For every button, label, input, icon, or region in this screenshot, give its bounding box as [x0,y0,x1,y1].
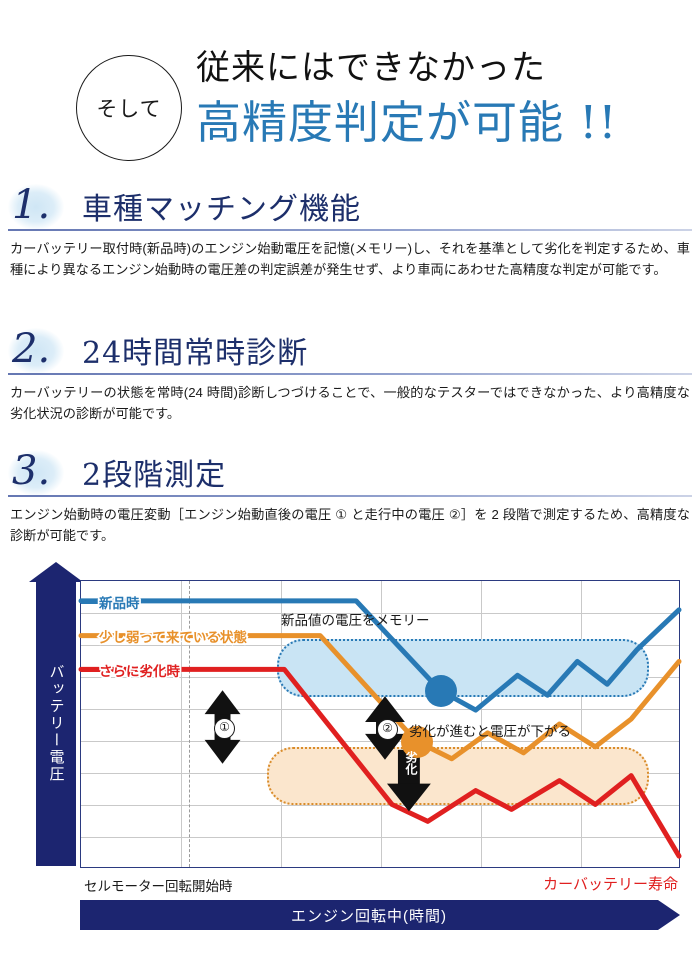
section-body-3: エンジン始動時の電圧変動［エンジン始動直後の電圧 ① と走行中の電圧 ②］を 2… [10,504,690,546]
section-rule-2 [8,373,692,375]
series-line-degraded [81,669,679,856]
header-line-1: 従来にはできなかった [196,40,546,89]
section-number-3: 3. [12,448,70,494]
section-body-2: カーバッテリーの状態を常時(24 時間)診断しつづけることで、一般的なテスターで… [10,382,690,424]
battery-life-note: カーバッテリー寿命 [543,873,678,894]
header-line-2: 高精度判定が可能 !! [196,86,617,151]
step1-circle-number: ① [214,718,235,739]
section-title-1: 車種マッチング機能 [82,184,361,228]
y-axis-banner: バッテリー電圧 [36,580,76,866]
section-title-3: 2段階測定 [82,450,226,494]
feature-section-2: 2. 24時間常時診断 カーバッテリーの状態を常時(24 時間)診断しつづけるこ… [0,330,700,374]
y-axis-label: バッテリー電圧 [36,580,76,866]
section-title-2: 24時間常時診断 [82,328,308,372]
marker-dot-new [425,675,457,707]
legend-label-weak: 少し弱って来ている状態 [99,626,247,646]
legend-label-degraded: さらに劣化時 [99,660,180,680]
x-axis-label: エンジン回転中(時間) [80,900,658,930]
section-body-1: カーバッテリー取付時(新品時)のエンジン始動電圧を記憶(メモリー)し、それを基準… [10,238,690,280]
x-axis-banner: エンジン回転中(時間) [80,900,658,930]
legend-label-new: 新品時 [99,592,140,612]
soshite-badge: そして [76,55,182,161]
feature-section-1: 1. 車種マッチング機能 カーバッテリー取付時(新品時)のエンジン始動電圧を記憶… [0,186,700,230]
section-rule-3 [8,495,692,497]
step2-circle-number: ② [377,719,398,740]
plot-area: ① ② 劣化 劣化が進むと電圧が下がる 新品値の電圧をメモリー 新品時 少し弱っ… [80,580,680,868]
section-rule-1 [8,229,692,231]
feature-section-3: 3. 2段階測定 エンジン始動時の電圧変動［エンジン始動直後の電圧 ① と走行中… [0,452,700,496]
header: そして 従来にはできなかった 高精度判定が可能 !! [0,18,700,148]
infographic-page: そして 従来にはできなかった 高精度判定が可能 !! 1. 車種マッチング機能 … [0,0,700,960]
section-number-2: 2. [12,326,70,372]
section-number-1: 1. [12,182,70,228]
cranking-start-note: セルモーター回転開始時 [84,875,233,895]
memory-annotation-label: 新品値の電圧をメモリー [281,609,430,629]
step2-annotation-text: 劣化が進むと電圧が下がる [409,720,571,740]
battery-voltage-chart: バッテリー電圧 [0,568,700,958]
degrade-arrow-label: 劣化 [403,751,417,775]
